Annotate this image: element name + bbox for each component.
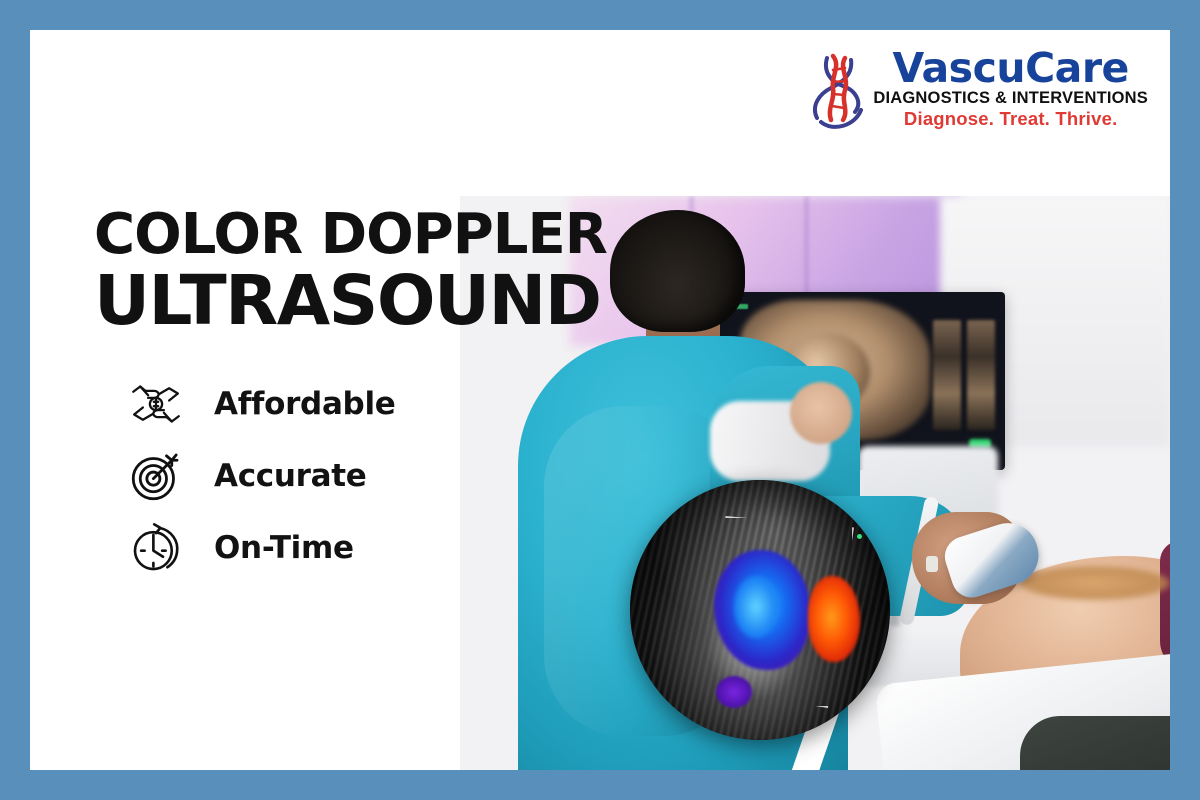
brand-name: VascuCare — [893, 48, 1129, 89]
patient-shirt — [1160, 541, 1170, 671]
doppler-scan-circle — [630, 480, 890, 740]
feature-label: Accurate — [214, 458, 366, 494]
monitor-thumbnail-strip — [933, 320, 995, 430]
doppler-marker-dot — [857, 534, 862, 539]
headline-line-1: COLOR DOPPLER — [94, 206, 607, 264]
headline-line-2: ULTRASOUND — [94, 266, 607, 336]
feature-item-accurate: Accurate — [128, 440, 396, 512]
doppler-violet-flow — [716, 676, 752, 708]
doppler-red-flow — [808, 576, 860, 662]
target-arrow-icon — [128, 448, 184, 504]
doctor-head — [610, 210, 745, 332]
dna-helix-icon — [811, 48, 867, 130]
feature-list: Affordable Accurate — [128, 368, 396, 584]
page-title: COLOR DOPPLER ULTRASOUND — [94, 206, 607, 337]
assistant-hand — [790, 382, 852, 444]
patient-pants — [1020, 716, 1170, 770]
brand-logo[interactable]: VascuCare DIAGNOSTICS & INTERVENTIONS Di… — [811, 48, 1148, 130]
poster-inner-canvas: VascuCare DIAGNOSTICS & INTERVENTIONS Di… — [30, 30, 1170, 770]
doppler-blue-core — [734, 576, 778, 638]
feature-label: Affordable — [214, 386, 396, 422]
clock-arrow-icon — [128, 520, 184, 576]
brand-tagline: Diagnose. Treat. Thrive. — [904, 110, 1118, 129]
feature-item-on-time: On-Time — [128, 512, 396, 584]
hands-holding-coin-icon — [128, 376, 184, 432]
feature-label: On-Time — [214, 530, 354, 566]
doctor-ring — [926, 556, 938, 572]
ultrasound-gel — [1020, 566, 1170, 600]
feature-item-affordable: Affordable — [128, 368, 396, 440]
poster-frame: VascuCare DIAGNOSTICS & INTERVENTIONS Di… — [0, 0, 1200, 800]
brand-text-block: VascuCare DIAGNOSTICS & INTERVENTIONS Di… — [873, 48, 1148, 128]
brand-subtitle: DIAGNOSTICS & INTERVENTIONS — [873, 90, 1148, 107]
